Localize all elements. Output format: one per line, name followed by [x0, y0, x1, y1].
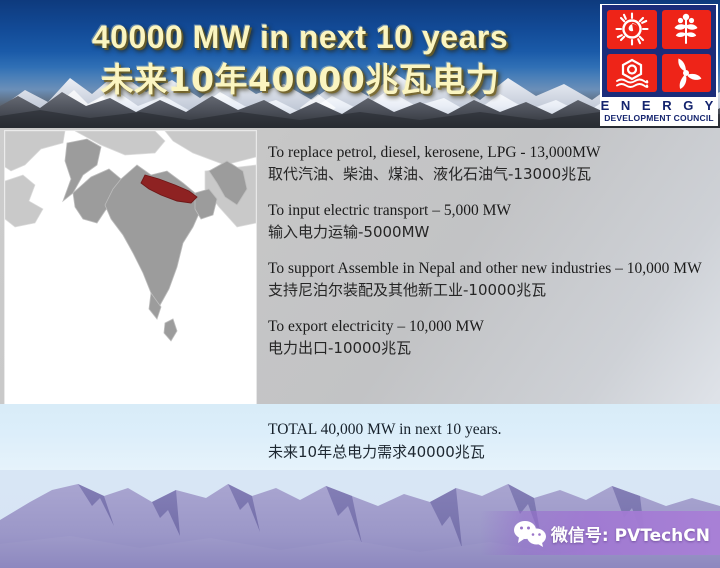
- slide-title-zh: 未来10年40000兆瓦电力: [0, 60, 600, 100]
- logo-tile-grid: [602, 5, 716, 97]
- south-asia-map: [5, 131, 256, 404]
- bullet-item-1: To replace petrol, diesel, kerosene, LPG…: [268, 142, 712, 185]
- bullet-4-en: To export electricity – 10,000 MW: [268, 316, 712, 337]
- hydro-turbine-icon: [614, 57, 650, 89]
- wind-turbine-icon: [669, 56, 703, 90]
- bullet-3-en: To support Assemble in Nepal and other n…: [268, 258, 712, 279]
- wechat-icon: [513, 519, 547, 547]
- bullet-item-4: To export electricity – 10,000 MW 电力出口-1…: [268, 316, 712, 359]
- total-en: TOTAL 40,000 MW in next 10 years.: [268, 419, 708, 441]
- plant-icon: [670, 12, 702, 46]
- bullet-1-en: To replace petrol, diesel, kerosene, LPG…: [268, 142, 712, 163]
- sun-icon: [615, 12, 649, 46]
- logo-name-line1: E N E R G Y: [600, 98, 718, 113]
- bullet-item-3: To support Assemble in Nepal and other n…: [268, 258, 712, 301]
- logo-name-line2: DEVELOPMENT COUNCIL: [600, 113, 718, 124]
- wechat-watermark: 微信号: PVTechCN: [480, 511, 720, 555]
- energy-development-council-logo: E N E R G Y DEVELOPMENT COUNCIL: [600, 4, 718, 126]
- bullet-2-zh: 输入电力运输-5000MW: [268, 221, 712, 243]
- slide-title-en: 40000 MW in next 10 years: [0, 18, 600, 56]
- bullet-4-zh: 电力出口-10000兆瓦: [268, 337, 712, 359]
- bullet-2-en: To input electric transport – 5,000 MW: [268, 200, 712, 221]
- south-asia-map-panel: [5, 131, 256, 404]
- slide-canvas: 40000 MW in next 10 years 未来10年40000兆瓦电力: [0, 0, 720, 568]
- logo-tile-solar: [607, 10, 657, 49]
- logo-tile-hydro: [607, 54, 657, 93]
- logo-wordmark: E N E R G Y DEVELOPMENT COUNCIL: [600, 98, 718, 124]
- logo-tile-wind: [662, 54, 712, 93]
- logo-tile-biomass: [662, 10, 712, 49]
- bullet-item-2: To input electric transport – 5,000 MW 输…: [268, 200, 712, 243]
- bullet-text-column: To replace petrol, diesel, kerosene, LPG…: [268, 142, 712, 359]
- bullet-1-zh: 取代汽油、柴油、煤油、液化石油气-13000兆瓦: [268, 163, 712, 185]
- watermark-label: 微信号: PVTechCN: [551, 521, 710, 546]
- bullet-3-zh: 支持尼泊尔装配及其他新工业-10000兆瓦: [268, 279, 712, 301]
